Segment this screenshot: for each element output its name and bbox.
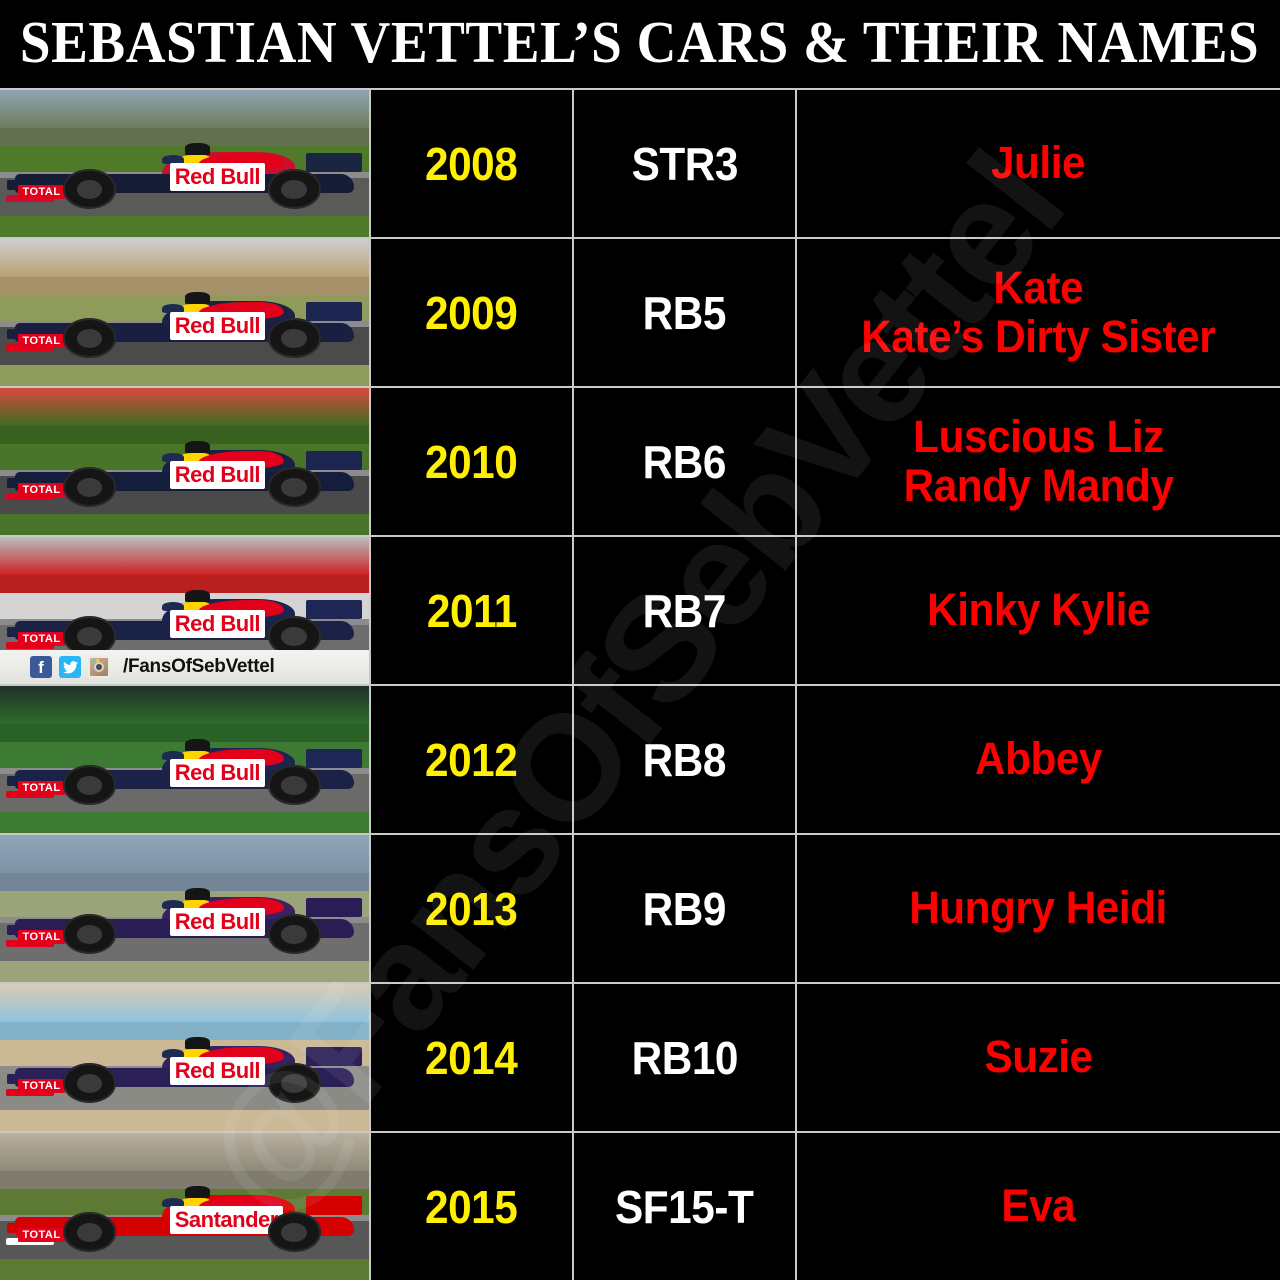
model-cell: STR3 (574, 90, 797, 237)
front-rim (77, 776, 103, 795)
twitter-icon[interactable] (59, 656, 81, 678)
rear-tyre (268, 318, 322, 358)
rear-wing (306, 302, 361, 321)
year-cell: 2011 (371, 537, 574, 684)
nickname-value: Eva (1002, 1182, 1076, 1231)
car-photo: Red Bull TOTAL f /FansOfSebVettel (0, 537, 371, 684)
table-row: Red Bull TOTAL 2012RB8Abbey (0, 684, 1280, 833)
table-row: Red Bull TOTAL 2010RB6Luscious LizRandy … (0, 386, 1280, 535)
year-cell: 2009 (371, 239, 574, 386)
nickname-value: Hungry Heidi (910, 884, 1168, 933)
rear-wing (306, 898, 361, 917)
rear-tyre (268, 914, 322, 954)
table-row: Red Bull TOTAL 2009RB5KateKate’s Dirty S… (0, 237, 1280, 386)
driver-helmet (162, 453, 184, 462)
year-cell: 2010 (371, 388, 574, 535)
total-sponsor-tag: TOTAL (18, 781, 64, 795)
nickname-value: Kinky Kylie (927, 586, 1150, 635)
year-cell: 2012 (371, 686, 574, 833)
front-rim (77, 1074, 103, 1093)
cars-table: Red Bull TOTAL 2008STR3Julie (0, 88, 1280, 1280)
total-sponsor-tag: TOTAL (18, 632, 64, 646)
photo-scene: Red Bull TOTAL (0, 388, 369, 535)
front-rim (77, 1223, 103, 1242)
nickname-cell: Julie (797, 90, 1280, 237)
f1-car: Santander TOTAL (0, 1133, 369, 1280)
model-value: RB8 (643, 733, 726, 787)
rear-wing (306, 749, 361, 768)
total-sponsor-tag: TOTAL (18, 930, 64, 944)
photo-scene: Red Bull TOTAL (0, 835, 369, 982)
instagram-icon[interactable] (88, 656, 110, 678)
f1-car: Red Bull TOTAL (0, 835, 369, 982)
nickname-value: Kate (862, 264, 1216, 313)
car-photo: Red Bull TOTAL (0, 239, 371, 386)
photo-scene: Red Bull TOTAL (0, 90, 369, 237)
model-value: RB10 (631, 1031, 737, 1085)
rear-tyre (268, 765, 322, 805)
nickname-value: Julie (991, 139, 1085, 188)
rear-rim (281, 776, 307, 795)
rear-rim (281, 1223, 307, 1242)
rear-wing (306, 153, 361, 172)
total-sponsor-tag: TOTAL (18, 185, 64, 199)
model-value: STR3 (631, 137, 737, 191)
photo-scene: Red Bull TOTAL (0, 984, 369, 1131)
driver-helmet (162, 1198, 184, 1207)
rear-rim (281, 329, 307, 348)
nickname-list: Eva (994, 1182, 1083, 1231)
rear-rim (281, 478, 307, 497)
front-rim (77, 478, 103, 497)
airbox (185, 739, 211, 751)
rear-wing (306, 1047, 361, 1066)
year-value: 2015 (425, 1180, 517, 1234)
rear-rim (281, 180, 307, 199)
nickname-list: KateKate’s Dirty Sister (854, 264, 1223, 361)
car-photo: Red Bull TOTAL (0, 686, 371, 833)
rear-wing (306, 451, 361, 470)
social-bar: f /FansOfSebVettel (0, 650, 371, 684)
front-tyre (63, 467, 117, 507)
rear-tyre (268, 467, 322, 507)
year-cell: 2014 (371, 984, 574, 1131)
front-tyre (63, 1212, 117, 1252)
airbox (185, 888, 211, 900)
sponsor-logo: Santander (170, 1206, 283, 1234)
rear-wing (306, 1196, 361, 1215)
year-cell: 2015 (371, 1133, 574, 1280)
instagram-rainbow (92, 659, 101, 662)
nickname-value: Randy Mandy (904, 462, 1174, 511)
year-value: 2010 (425, 435, 517, 489)
nickname-list: Suzie (977, 1033, 1100, 1082)
table-row: Red Bull TOTAL 2013RB9Hungry Heidi (0, 833, 1280, 982)
sponsor-logo: Red Bull (170, 1057, 265, 1085)
front-rim (77, 329, 103, 348)
year-value: 2013 (425, 882, 517, 936)
model-cell: SF15-T (574, 1133, 797, 1280)
nickname-cell: Suzie (797, 984, 1280, 1131)
rear-rim (281, 1074, 307, 1093)
nickname-cell: KateKate’s Dirty Sister (797, 239, 1280, 386)
year-cell: 2013 (371, 835, 574, 982)
sponsor-logo: Red Bull (170, 163, 265, 191)
driver-helmet (162, 155, 184, 164)
page-title: SEBASTIAN VETTEL’S CARS & THEIR NAMES (20, 14, 1259, 73)
sponsor-logo: Red Bull (170, 312, 265, 340)
f1-car: Red Bull TOTAL (0, 90, 369, 237)
airbox (185, 1186, 211, 1198)
nickname-list: Julie (984, 139, 1093, 188)
nickname-cell: Eva (797, 1133, 1280, 1280)
photo-scene: Red Bull TOTAL (0, 239, 369, 386)
airbox (185, 1037, 211, 1049)
nickname-cell: Luscious LizRandy Mandy (797, 388, 1280, 535)
rear-tyre (268, 1063, 322, 1103)
year-value: 2008 (425, 137, 517, 191)
total-sponsor-tag: TOTAL (18, 1228, 64, 1242)
front-rim (77, 925, 103, 944)
driver-helmet (162, 602, 184, 611)
model-cell: RB9 (574, 835, 797, 982)
airbox (185, 292, 211, 304)
table-row: Santander TOTAL 2015SF15-TEva (0, 1131, 1280, 1280)
airbox (185, 143, 211, 155)
rear-tyre (268, 169, 322, 209)
sponsor-logo: Red Bull (170, 759, 265, 787)
f1-car: Red Bull TOTAL (0, 984, 369, 1131)
f1-car: Red Bull TOTAL (0, 388, 369, 535)
car-photo: Santander TOTAL (0, 1133, 371, 1280)
table-row: Red Bull TOTAL 2008STR3Julie (0, 88, 1280, 237)
rear-rim (281, 925, 307, 944)
nickname-list: Hungry Heidi (902, 884, 1175, 933)
driver-helmet (162, 304, 184, 313)
instagram-lens (94, 662, 104, 672)
model-value: RB6 (643, 435, 726, 489)
nickname-cell: Hungry Heidi (797, 835, 1280, 982)
f1-car: Red Bull TOTAL (0, 686, 369, 833)
social-handle: /FansOfSebVettel (123, 656, 274, 678)
title-bar: SEBASTIAN VETTEL’S CARS & THEIR NAMES (0, 0, 1280, 88)
photo-scene: Red Bull TOTAL (0, 686, 369, 833)
sponsor-logo: Red Bull (170, 461, 265, 489)
front-rim (77, 627, 103, 646)
sponsor-logo: Red Bull (170, 908, 265, 936)
airbox (185, 590, 211, 602)
year-value: 2014 (425, 1031, 517, 1085)
front-rim (77, 180, 103, 199)
airbox (185, 441, 211, 453)
table-row: Red Bull TOTAL 2014RB10Suzie (0, 982, 1280, 1131)
nickname-cell: Kinky Kylie (797, 537, 1280, 684)
total-sponsor-tag: TOTAL (18, 483, 64, 497)
driver-helmet (162, 1049, 184, 1058)
front-tyre (63, 765, 117, 805)
model-value: RB9 (643, 882, 726, 936)
front-tyre (63, 1063, 117, 1103)
model-value: RB7 (643, 584, 726, 638)
model-cell: RB5 (574, 239, 797, 386)
year-value: 2009 (425, 286, 517, 340)
driver-helmet (162, 900, 184, 909)
nickname-value: Luscious Liz (904, 413, 1174, 462)
table-row: Red Bull TOTAL f /FansOfSebVettel2011RB7… (0, 535, 1280, 684)
driver-helmet (162, 751, 184, 760)
facebook-icon[interactable]: f (30, 656, 52, 678)
rear-tyre (268, 1212, 322, 1252)
nickname-list: Abbey (968, 735, 1110, 784)
total-sponsor-tag: TOTAL (18, 1079, 64, 1093)
nickname-value: Kate’s Dirty Sister (862, 313, 1216, 362)
model-cell: RB7 (574, 537, 797, 684)
model-value: RB5 (643, 286, 726, 340)
model-cell: RB8 (574, 686, 797, 833)
model-value: SF15-T (615, 1180, 753, 1234)
rear-rim (281, 627, 307, 646)
nickname-cell: Abbey (797, 686, 1280, 833)
car-photo: Red Bull TOTAL (0, 388, 371, 535)
model-cell: RB6 (574, 388, 797, 535)
f1-car: Red Bull TOTAL (0, 239, 369, 386)
year-value: 2011 (427, 584, 517, 638)
front-tyre (63, 318, 117, 358)
sponsor-logo: Red Bull (170, 610, 265, 638)
infographic-root: SEBASTIAN VETTEL’S CARS & THEIR NAMES Re… (0, 0, 1280, 1280)
front-tyre (63, 169, 117, 209)
rear-wing (306, 600, 361, 619)
nickname-list: Luscious LizRandy Mandy (896, 413, 1181, 510)
car-photo: Red Bull TOTAL (0, 835, 371, 982)
total-sponsor-tag: TOTAL (18, 334, 64, 348)
photo-scene: Santander TOTAL (0, 1133, 369, 1280)
nickname-list: Kinky Kylie (920, 586, 1158, 635)
car-photo: Red Bull TOTAL (0, 90, 371, 237)
nickname-value: Suzie (984, 1033, 1092, 1082)
car-photo: Red Bull TOTAL (0, 984, 371, 1131)
model-cell: RB10 (574, 984, 797, 1131)
year-value: 2012 (425, 733, 517, 787)
year-cell: 2008 (371, 90, 574, 237)
nickname-value: Abbey (975, 735, 1102, 784)
front-tyre (63, 914, 117, 954)
